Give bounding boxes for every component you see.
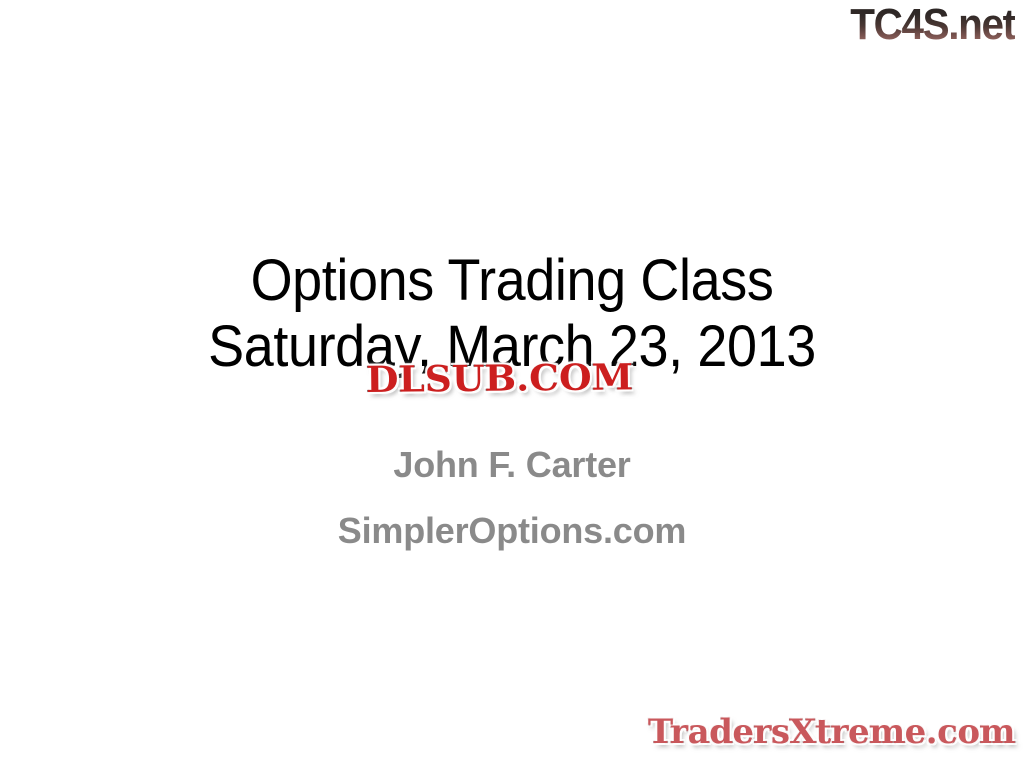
- slide-subtitle: John F. Carter SimplerOptions.com: [0, 446, 1024, 550]
- subtitle-website: SimplerOptions.com: [0, 512, 1024, 550]
- tradersxtreme-com-watermark: TradersXtreme.com: [648, 713, 1015, 751]
- title-line-1: Options Trading Class: [36, 248, 988, 314]
- dlsub-com-watermark: DLSUB.COM: [366, 357, 633, 400]
- presentation-slide: TC4S.net Options Trading Class Saturday,…: [0, 0, 1024, 768]
- tc4s-net-watermark: TC4S.net: [851, 2, 1015, 48]
- subtitle-presenter-name: John F. Carter: [0, 446, 1024, 484]
